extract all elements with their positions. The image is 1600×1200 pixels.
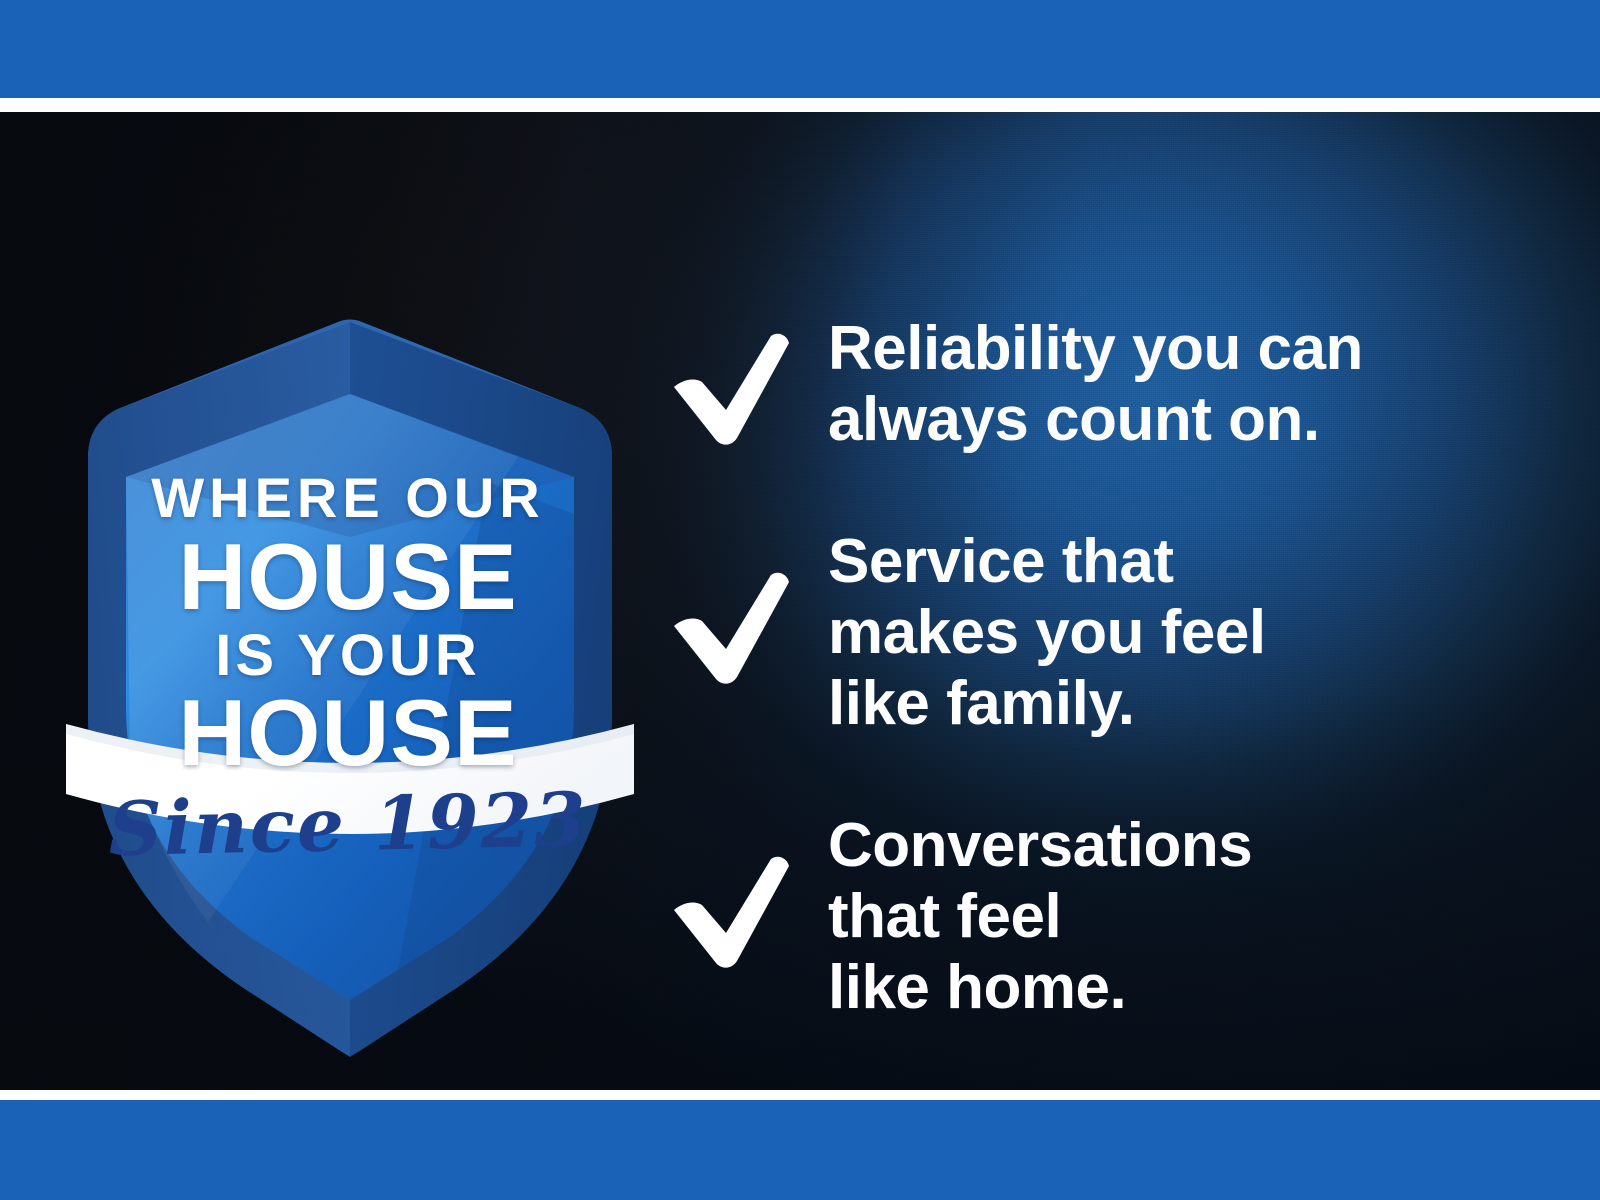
shield-icon bbox=[58, 282, 638, 1072]
benefit-text-line: Reliability you can bbox=[828, 314, 1363, 385]
benefit-text: Reliability you can always count on. bbox=[828, 308, 1363, 455]
benefit-text-line: like home. bbox=[828, 953, 1252, 1024]
benefit-text-line: always count on. bbox=[828, 385, 1363, 456]
bottom-brand-bar bbox=[0, 1100, 1600, 1200]
promotional-graphic: WHERE OUR HOUSE IS YOUR HOUSE Since 1923… bbox=[0, 0, 1600, 1200]
benefits-list: Reliability you can always count on. Ser… bbox=[668, 308, 1548, 1023]
benefit-text-line: like family. bbox=[828, 669, 1266, 740]
benefit-text-line: Conversations bbox=[828, 811, 1252, 882]
benefit-text-line: makes you feel bbox=[828, 598, 1266, 669]
benefit-item: Conversations that feel like home. bbox=[668, 805, 1548, 1023]
benefit-text: Conversations that feel like home. bbox=[828, 805, 1252, 1023]
benefit-item: Service that makes you feel like family. bbox=[668, 521, 1548, 739]
benefit-text: Service that makes you feel like family. bbox=[828, 521, 1266, 739]
main-canvas: WHERE OUR HOUSE IS YOUR HOUSE Since 1923… bbox=[0, 112, 1600, 1090]
benefit-text-line: Service that bbox=[828, 527, 1266, 598]
benefit-text-line: that feel bbox=[828, 882, 1252, 953]
shield-emblem: WHERE OUR HOUSE IS YOUR HOUSE Since 1923 bbox=[58, 282, 638, 1072]
check-icon bbox=[668, 569, 792, 687]
check-icon bbox=[668, 853, 792, 971]
top-brand-bar bbox=[0, 0, 1600, 98]
check-icon bbox=[668, 330, 792, 448]
benefit-item: Reliability you can always count on. bbox=[668, 308, 1548, 455]
